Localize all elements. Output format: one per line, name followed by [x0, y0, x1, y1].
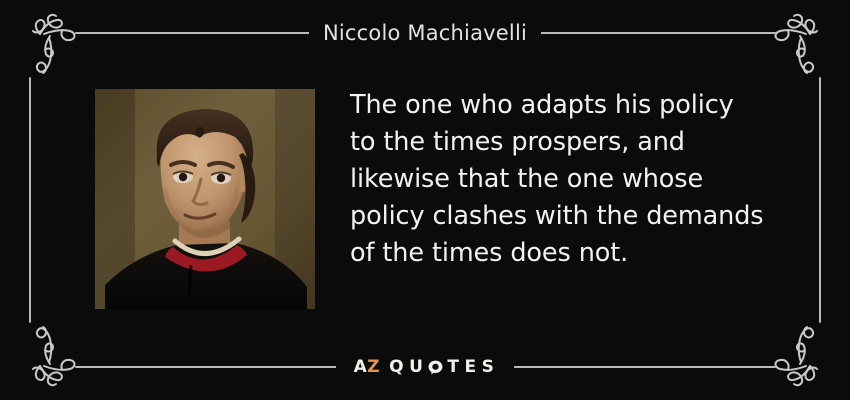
brand-letter-a: A	[354, 357, 368, 377]
speech-bubble-o-icon	[428, 360, 443, 375]
brand-letter-e: E	[465, 359, 479, 376]
brand-quotes-word: Q U T E S	[389, 359, 496, 376]
author-name: Niccolo Machiavelli	[309, 21, 541, 45]
quote-body: The one who adapts his policy to the tim…	[40, 60, 810, 340]
brand-letter-t: T	[447, 359, 461, 376]
brand-az: AZ	[354, 359, 381, 376]
author-title-row: Niccolo Machiavelli	[40, 18, 810, 48]
quote-card: Niccolo Machiavelli	[0, 0, 850, 400]
brand-letter-u: U	[409, 359, 425, 376]
author-portrait	[95, 89, 315, 309]
azquotes-logo[interactable]: AZ Q U T E S	[336, 359, 515, 376]
brand-letter-s: S	[482, 359, 497, 376]
portrait-illustration	[95, 89, 315, 309]
brand-footer-row: AZ Q U T E S	[40, 352, 810, 382]
brand-letter-q: Q	[389, 359, 406, 376]
brand-letter-z: Z	[367, 357, 380, 377]
quote-text-container: The one who adapts his policy to the tim…	[350, 87, 810, 272]
quote-text: The one who adapts his policy to the tim…	[350, 87, 800, 272]
